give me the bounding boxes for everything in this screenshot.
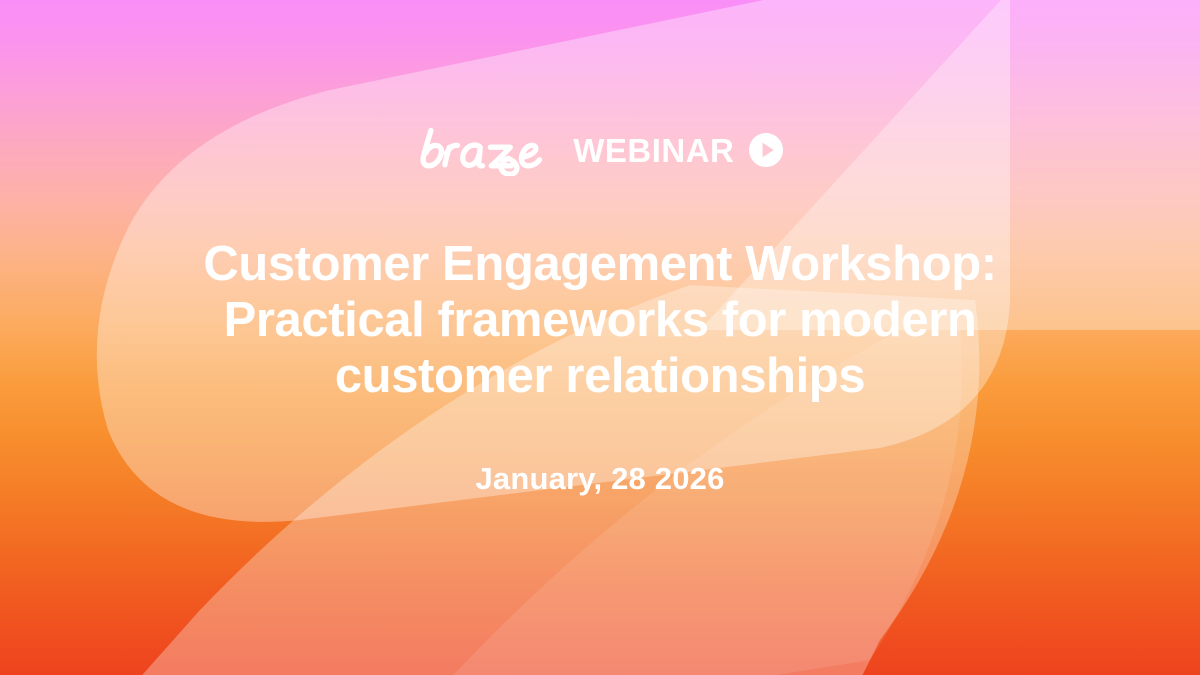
play-circle-icon[interactable] [749,133,783,167]
webinar-label-group: WEBINAR [573,133,783,167]
banner-content: WEBINAR Customer Engagement Workshop: Pr… [0,0,1200,675]
headline: Customer Engagement Workshop: Practical … [120,236,1080,404]
webinar-label: WEBINAR [573,134,734,167]
event-date: January, 28 2026 [475,460,724,497]
braze-script-wordmark-icon [417,124,552,176]
headline-line-1: Customer Engagement Workshop: [120,236,1080,292]
brand-logo-lockup: WEBINAR [417,122,784,178]
headline-line-2: Practical frameworks for modern [120,292,1080,348]
webinar-promo-banner: WEBINAR Customer Engagement Workshop: Pr… [0,0,1200,675]
headline-line-3: customer relationships [120,348,1080,404]
